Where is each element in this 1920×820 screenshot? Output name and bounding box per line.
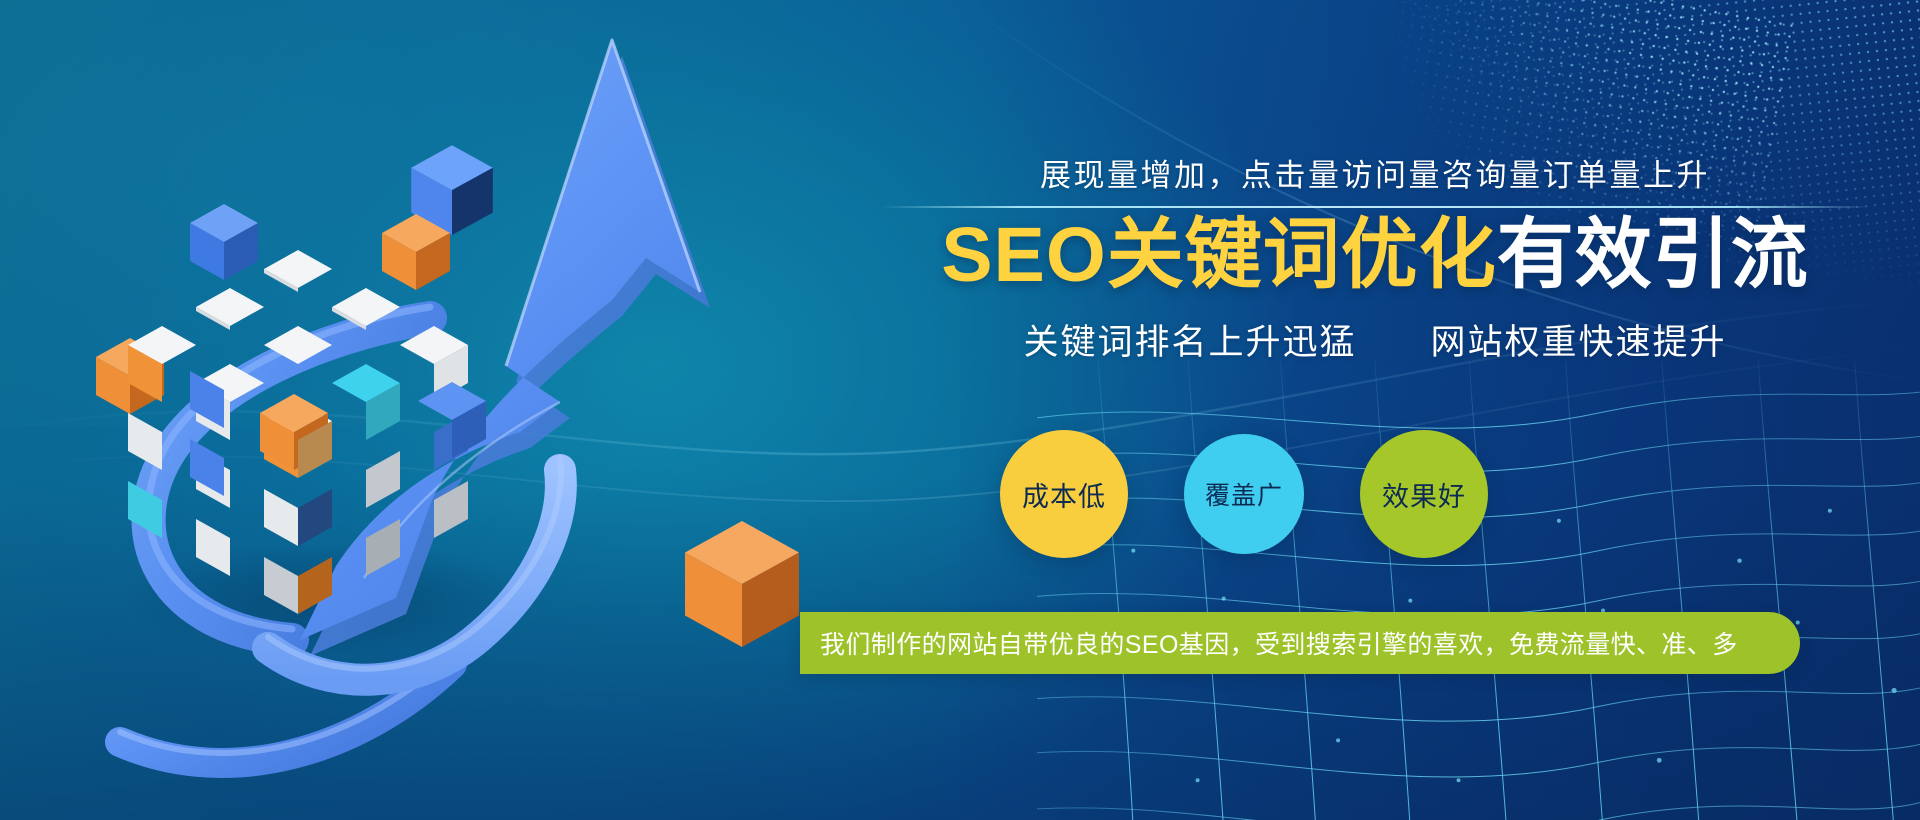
page-title: SEO关键词优化有效引流: [880, 212, 1870, 298]
badge-good-results: 效果好: [1360, 430, 1488, 558]
benefit-badges: 成本低 覆盖广 效果好: [1000, 430, 1488, 558]
hero-illustration: [0, 0, 830, 820]
divider-line: [880, 206, 1870, 208]
badge-wide-coverage: 覆盖广: [1184, 434, 1304, 554]
subline-text: 关键词排名上升迅猛 网站权重快速提升: [880, 314, 1870, 365]
seo-promo-banner: 展现量增加，点击量访问量咨询量订单量上升 SEO关键词优化有效引流 关键词排名上…: [0, 0, 1920, 820]
value-proposition-text: 我们制作的网站自带优良的SEO基因，受到搜索引擎的喜欢，免费流量快、准、多: [820, 625, 1738, 661]
badge-good-results-label: 效果好: [1382, 475, 1466, 514]
copy-block: 展现量增加，点击量访问量咨询量订单量上升 SEO关键词优化有效引流 关键词排名上…: [880, 150, 1870, 365]
badge-low-cost-label: 成本低: [1022, 475, 1106, 514]
headline-rest: 有效引流: [1497, 212, 1809, 298]
headline-highlight: SEO关键词优化: [941, 212, 1497, 298]
value-proposition-bar: 我们制作的网站自带优良的SEO基因，受到搜索引擎的喜欢，免费流量快、准、多: [800, 612, 1800, 674]
cubelet-detached-blue-top: [190, 204, 258, 280]
badge-wide-coverage-label: 覆盖广: [1205, 476, 1283, 512]
badge-low-cost: 成本低: [1000, 430, 1128, 558]
floating-cube-orange: [685, 521, 799, 647]
eyebrow-text: 展现量增加，点击量访问量咨询量订单量上升: [880, 150, 1870, 195]
